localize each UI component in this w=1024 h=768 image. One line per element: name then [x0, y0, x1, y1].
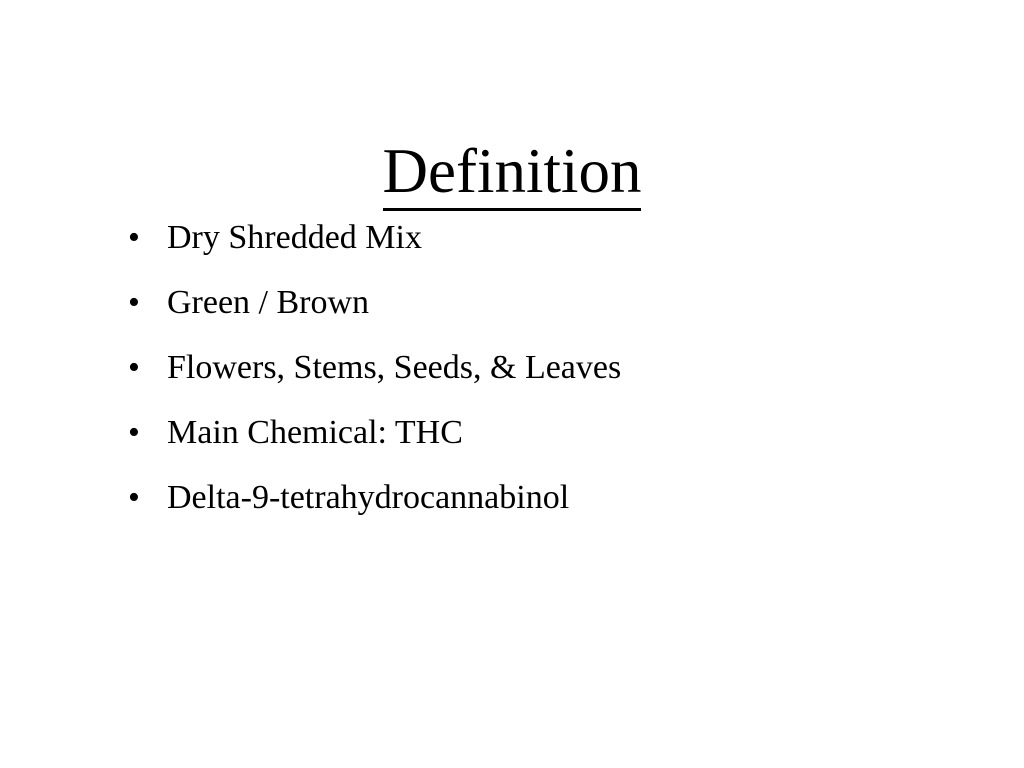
list-item-label: Dry Shredded Mix [167, 219, 422, 256]
list-item-label: Delta-9-tetrahydrocannabinol [167, 479, 569, 516]
list-item-label: Green / Brown [167, 284, 369, 321]
presentation-slide: Definition • Dry Shredded Mix • Green / … [0, 0, 1024, 768]
list-item: • Dry Shredded Mix [126, 205, 966, 270]
bullet-list: • Dry Shredded Mix • Green / Brown • Flo… [126, 205, 966, 530]
list-item: • Flowers, Stems, Seeds, & Leaves [126, 335, 966, 400]
list-item-label: Flowers, Stems, Seeds, & Leaves [167, 349, 621, 386]
list-item-label: Main Chemical: THC [167, 414, 463, 451]
list-item: • Green / Brown [126, 270, 966, 335]
bullet-point-icon: • [128, 205, 148, 270]
bullet-point-icon: • [128, 335, 148, 400]
bullet-point-icon: • [128, 270, 148, 335]
list-item: • Main Chemical: THC [126, 400, 966, 465]
page-title: Definition [383, 138, 642, 211]
list-item: • Delta-9-tetrahydrocannabinol [126, 465, 966, 530]
bullet-point-icon: • [128, 400, 148, 465]
bullet-point-icon: • [128, 465, 148, 530]
slide-content-body: • Dry Shredded Mix • Green / Brown • Flo… [126, 205, 966, 530]
